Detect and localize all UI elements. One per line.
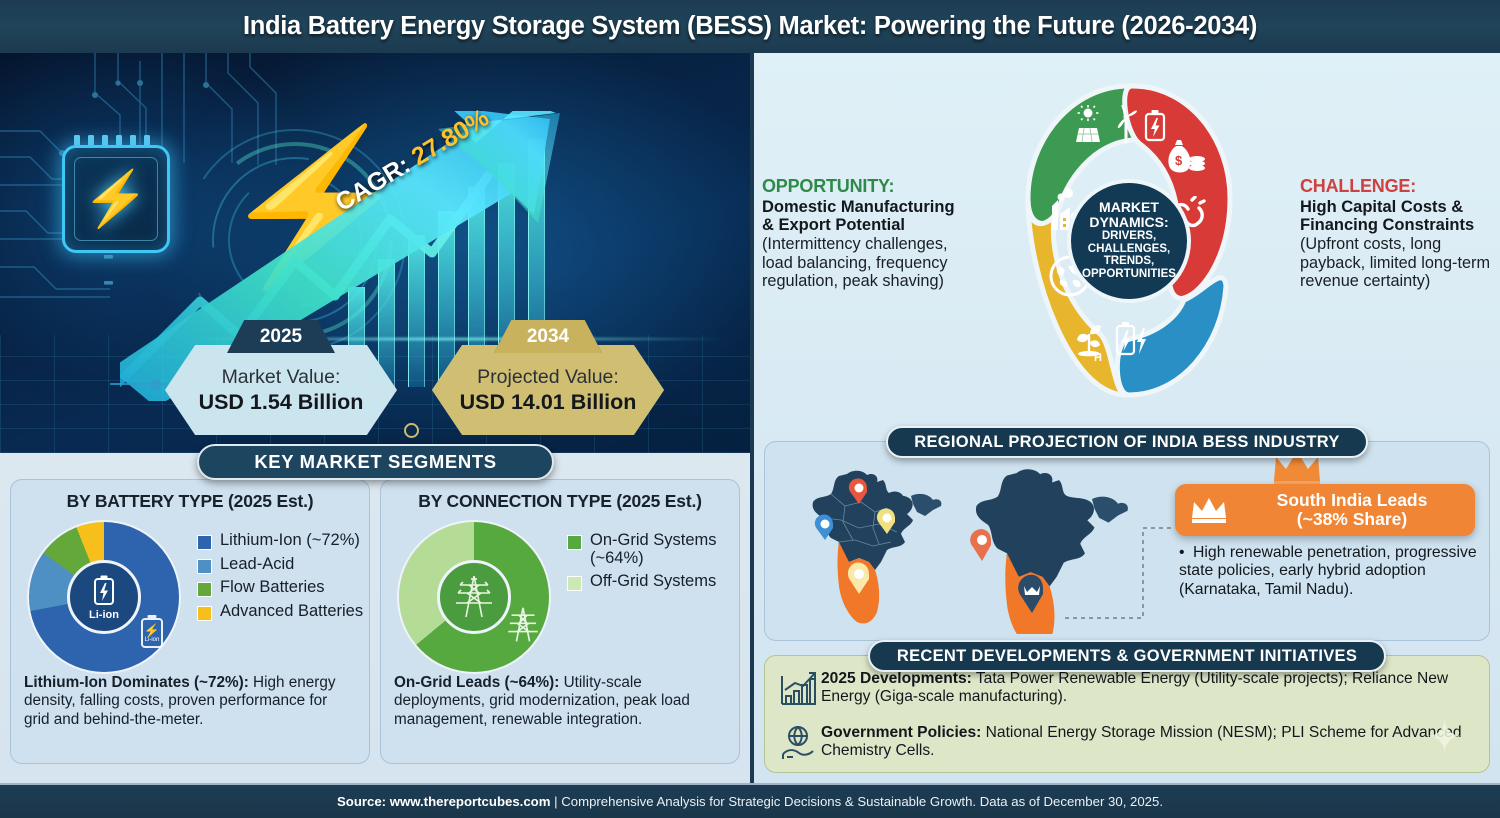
right-panel: OPPORTUNITY: Domestic Manufacturing & Ex… bbox=[754, 53, 1500, 783]
legend-item: Off-Grid Systems bbox=[567, 573, 739, 591]
challenge-block: CHALLENGE: High Capital Costs & Financin… bbox=[1300, 176, 1500, 290]
legend-item: Lithium-Ion (~72%) bbox=[197, 532, 363, 550]
market-dynamics-center: MARKET DYNAMICS: DRIVERS, CHALLENGES, TR… bbox=[1067, 179, 1191, 303]
market-value-amount: USD 1.54 Billion bbox=[199, 390, 364, 415]
small-transmission-tower-icon bbox=[505, 604, 541, 646]
market-value-label: Market Value: bbox=[222, 366, 341, 389]
market-dynamics-ring: $ bbox=[1014, 78, 1244, 403]
svg-text:H: H bbox=[1094, 352, 1102, 362]
legend-label-lead-acid: Lead-Acid bbox=[220, 556, 294, 574]
crown-badge-icon bbox=[1189, 496, 1229, 524]
south-india-leads-badge: South India Leads (~38% Share) bbox=[1175, 484, 1475, 536]
legend-label-off-grid: Off-Grid Systems bbox=[590, 573, 716, 591]
legend-swatch-advanced-batteries bbox=[197, 606, 212, 621]
projected-value-label: Projected Value: bbox=[477, 366, 619, 389]
footer-bar: Source: www.thereportcubes.com | Compreh… bbox=[0, 783, 1500, 818]
battery-type-title: BY BATTERY TYPE (2025 Est.) bbox=[11, 491, 369, 512]
plant-icon: H bbox=[1070, 318, 1110, 362]
connection-type-title: BY CONNECTION TYPE (2025 Est.) bbox=[381, 491, 739, 512]
key-market-segments-pill: KEY MARKET SEGMENTS bbox=[197, 444, 554, 480]
money-bag-icon: $ bbox=[1162, 138, 1208, 181]
legend-label-advanced-batteries: Advanced Batteries bbox=[220, 603, 363, 621]
legend-label-flow-batteries: Flow Batteries bbox=[220, 579, 325, 597]
dashed-connector bbox=[1063, 514, 1175, 626]
center-title-line2: DYNAMICS: bbox=[1089, 215, 1168, 230]
wind-turbine-icon bbox=[1113, 104, 1139, 144]
regional-note-text: High renewable penetration, progressive … bbox=[1179, 544, 1477, 598]
south-india-badge-line1: South India Leads bbox=[1229, 491, 1475, 510]
connection-type-note-bold: On-Grid Leads (~64%): bbox=[394, 674, 559, 691]
development-2025-label: 2025 Developments: bbox=[821, 670, 972, 687]
legend-swatch-on-grid bbox=[567, 535, 582, 550]
small-battery-icon: ⚡Li-ion bbox=[141, 618, 163, 648]
legend-swatch-lithium-ion bbox=[197, 535, 212, 550]
legend-label-on-grid: On-Grid Systems (~64%) bbox=[590, 532, 739, 568]
year-badge-2034: 2034 bbox=[494, 320, 602, 353]
center-line-trends: TRENDS, bbox=[1104, 255, 1154, 268]
footer-text: Source: www.thereportcubes.com | Compreh… bbox=[337, 794, 1163, 809]
transmission-tower-icon bbox=[452, 573, 496, 621]
page-title-bar: India Battery Energy Storage System (BES… bbox=[0, 0, 1500, 53]
battery-type-legend: Lithium-Ion (~72%) Lead-Acid Flow Batter… bbox=[197, 532, 363, 626]
legend-item: Flow Batteries bbox=[197, 579, 363, 597]
development-policies-label: Government Policies: bbox=[821, 724, 981, 741]
regional-projection-box: South India Leads (~38% Share) •High ren… bbox=[764, 441, 1490, 641]
center-title-line1: MARKET bbox=[1099, 200, 1159, 215]
legend-swatch-flow-batteries bbox=[197, 582, 212, 597]
center-line-challenges: CHALLENGES, bbox=[1088, 243, 1170, 256]
legend-item: On-Grid Systems (~64%) bbox=[567, 532, 739, 568]
regional-note: •High renewable penetration, progressive… bbox=[1179, 544, 1499, 599]
svg-text:$: $ bbox=[1175, 153, 1183, 168]
opportunity-subheading: Domestic Manufacturing & Export Potentia… bbox=[762, 198, 967, 234]
green-hydrogen-icon-group: H bbox=[1070, 318, 1148, 362]
footer-rest: | Comprehensive Analysis for Strategic D… bbox=[550, 794, 1163, 809]
legend-label-lithium-ion: Lithium-Ion (~72%) bbox=[220, 532, 360, 550]
challenge-heading: CHALLENGE: bbox=[1300, 176, 1500, 197]
footer-source: Source: www.thereportcubes.com bbox=[337, 794, 551, 809]
south-india-badge-line2: (~38% Share) bbox=[1229, 510, 1475, 529]
card-connector-node bbox=[404, 423, 419, 438]
renewables-icon-group bbox=[1076, 104, 1168, 144]
legend-swatch-lead-acid bbox=[197, 559, 212, 574]
grid-tower-hub-icon bbox=[437, 560, 511, 634]
market-value-card-2025: Market Value: USD 1.54 Billion 2025 bbox=[165, 345, 397, 435]
center-line-drivers: DRIVERS, bbox=[1102, 230, 1156, 243]
connection-type-legend: On-Grid Systems (~64%) Off-Grid Systems bbox=[567, 532, 739, 597]
hero-growth-visual: ⚡ ⚡ bbox=[0, 53, 750, 453]
battery-icon bbox=[91, 574, 117, 608]
development-item-policies: Government Policies: National Energy Sto… bbox=[777, 724, 1477, 767]
connection-type-segment-card: BY CONNECTION TYPE (2025 Est.) bbox=[380, 479, 740, 764]
development-item-2025: 2025 Developments: Tata Power Renewable … bbox=[777, 670, 1477, 713]
legend-item: Lead-Acid bbox=[197, 556, 363, 574]
regional-projection-pill: REGIONAL PROJECTION OF INDIA BESS INDUST… bbox=[886, 426, 1368, 458]
li-ion-hub-icon: Li-ion bbox=[67, 560, 141, 634]
year-badge-2025: 2025 bbox=[227, 320, 335, 353]
battery-type-segment-card: BY BATTERY TYPE (2025 Est.) Li-ion ⚡Li-i… bbox=[10, 479, 370, 764]
legend-item: Advanced Batteries bbox=[197, 603, 363, 621]
recent-developments-pill: RECENT DEVELOPMENTS & GOVERNMENT INITIAT… bbox=[868, 640, 1386, 672]
recent-developments-box: 2025 Developments: Tata Power Renewable … bbox=[764, 655, 1490, 773]
opportunity-block: OPPORTUNITY: Domestic Manufacturing & Ex… bbox=[762, 176, 967, 290]
battery-charge-icon bbox=[1114, 320, 1148, 360]
projected-value-amount: USD 14.01 Billion bbox=[460, 390, 637, 415]
battery-type-donut-chart: Li-ion ⚡Li-ion bbox=[29, 522, 179, 672]
center-line-opportunities: OPPORTUNITIES bbox=[1082, 268, 1176, 281]
challenge-subheading: High Capital Costs & Financing Constrain… bbox=[1300, 198, 1500, 234]
page-title: India Battery Energy Storage System (BES… bbox=[243, 12, 1257, 41]
opportunity-heading: OPPORTUNITY: bbox=[762, 176, 967, 197]
challenge-detail: (Upfront costs, long payback, limited lo… bbox=[1300, 235, 1500, 290]
li-ion-hub-label: Li-ion bbox=[89, 609, 119, 621]
opportunity-detail: (Intermittency challenges, load balancin… bbox=[762, 235, 967, 290]
battery-type-note: Lithium-Ion Dominates (~72%): High energ… bbox=[24, 674, 356, 729]
legend-swatch-off-grid bbox=[567, 576, 582, 591]
map-pin-west-2 bbox=[970, 529, 991, 561]
projected-value-card-2034: Projected Value: USD 14.01 Billion 2034 bbox=[432, 345, 664, 435]
battery-type-note-bold: Lithium-Ion Dominates (~72%): bbox=[24, 674, 249, 691]
bar-chart-growth-icon bbox=[777, 670, 821, 713]
connection-type-note: On-Grid Leads (~64%): Utility-scale depl… bbox=[394, 674, 726, 729]
globe-in-hand-icon bbox=[777, 724, 821, 767]
connection-type-donut-chart bbox=[399, 522, 549, 672]
sun-solar-panel-icon bbox=[1076, 104, 1110, 144]
